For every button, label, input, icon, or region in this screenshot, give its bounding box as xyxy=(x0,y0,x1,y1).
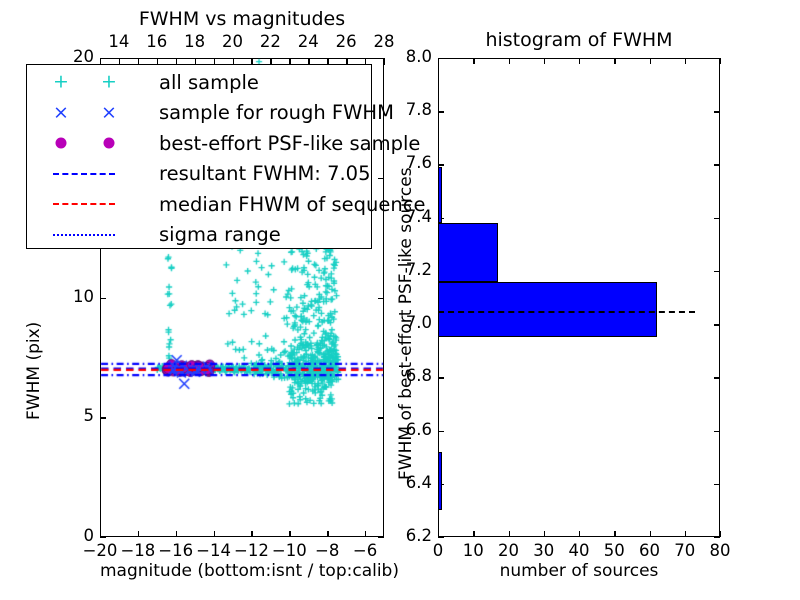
histogram-ytick-label: 6.2 xyxy=(380,528,432,545)
figure-canvas: FWHM vs magnitudes magnitude (bottom:isn… xyxy=(0,0,800,600)
cross-marker-icon: × xyxy=(101,103,117,122)
legend-marker xyxy=(27,128,159,159)
histogram-ytick-label: 7.0 xyxy=(380,315,432,332)
histogram-ytick-label: 7.6 xyxy=(380,155,432,172)
scatter-plot-title: FWHM vs magnitudes xyxy=(100,10,384,29)
histogram-ytick-label: 7.2 xyxy=(380,262,432,279)
histogram-ytick-label: 6.4 xyxy=(380,475,432,492)
resultant-fwhm-marker-line xyxy=(438,311,695,313)
legend-item[interactable]: ××sample for rough FWHM xyxy=(27,98,371,129)
scatter-ytick-label: 0 xyxy=(52,528,94,545)
legend-marker: ×× xyxy=(27,98,159,129)
histogram-xtick-label: 80 xyxy=(696,543,744,560)
scatter-xlabel: magnitude (bottom:isnt / top:calib) xyxy=(100,563,384,580)
histogram-bar xyxy=(438,167,442,223)
dashed-line-icon xyxy=(53,173,115,175)
dot-marker-icon xyxy=(104,138,115,149)
histogram-ytick-label: 6.6 xyxy=(380,422,432,439)
histogram-title: histogram of FWHM xyxy=(438,31,720,50)
histogram-bar xyxy=(438,452,442,511)
plus-marker-icon: + xyxy=(53,73,69,92)
dashdot-line-icon xyxy=(53,234,115,236)
cross-marker-icon: × xyxy=(53,103,69,122)
scatter-xtick-label: −6 xyxy=(339,543,391,560)
legend-item[interactable]: best-effort PSF-like sample xyxy=(27,128,371,159)
legend-label: all sample xyxy=(159,73,259,93)
histogram-xlabel: number of sources xyxy=(438,563,720,580)
legend-label: resultant FWHM: 7.05 xyxy=(159,164,371,184)
legend-label: sample for rough FWHM xyxy=(159,103,394,123)
legend-item[interactable]: ++all sample xyxy=(27,67,371,98)
scatter-ylabel: FWHM (pix) xyxy=(26,322,43,420)
legend-marker xyxy=(27,220,159,251)
legend-item[interactable]: sigma range xyxy=(27,220,371,251)
dot-marker-icon xyxy=(56,138,67,149)
legend-label: median FHWM of sequence xyxy=(159,195,425,215)
legend-label: sigma range xyxy=(159,225,281,245)
legend-label: best-effort PSF-like sample xyxy=(159,134,420,154)
legend-marker xyxy=(27,159,159,190)
legend[interactable]: ++all sample××sample for rough FWHMbest-… xyxy=(26,64,372,249)
scatter-ytick-label: 5 xyxy=(52,408,94,425)
histogram-bar xyxy=(438,282,657,338)
histogram-ytick-label: 6.8 xyxy=(380,368,432,385)
legend-marker: ++ xyxy=(27,67,159,98)
histogram-bar xyxy=(438,223,498,282)
histogram-ytick-label: 8.0 xyxy=(380,49,432,66)
legend-item[interactable]: resultant FWHM: 7.05 xyxy=(27,159,371,190)
scatter-ytick-label: 10 xyxy=(52,289,94,306)
plus-marker-icon: + xyxy=(101,73,117,92)
legend-item[interactable]: median FHWM of sequence xyxy=(27,189,371,220)
legend-marker xyxy=(27,189,159,220)
dashed-line-icon xyxy=(53,203,115,205)
